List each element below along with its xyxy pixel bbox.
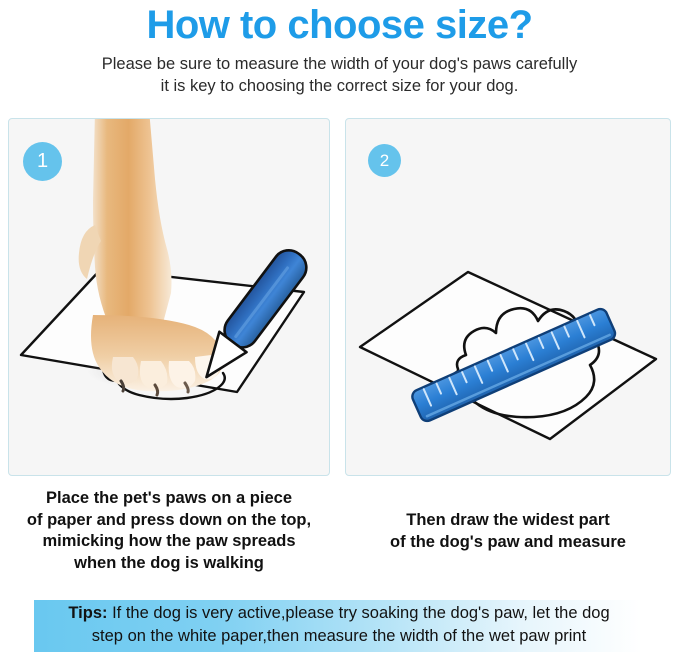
step-2-caption: Then draw the widest part of the dog's p…	[345, 510, 671, 553]
caption-1-line-2: of paper and press down on the top,	[8, 510, 330, 532]
tips-banner: Tips: If the dog is very active,please t…	[34, 600, 642, 652]
caption-1-line-1: Place the pet's paws on a piece	[8, 488, 330, 510]
caption-1-line-3: mimicking how the paw spreads	[8, 531, 330, 553]
caption-2-line-2: of the dog's paw and measure	[345, 532, 671, 554]
page-title: How to choose size?	[0, 2, 679, 48]
step-number-badge-1: 1	[23, 142, 62, 181]
dog-leg	[93, 119, 172, 331]
step-panel-2: 2	[345, 118, 671, 476]
caption-1-line-4: when the dog is walking	[8, 553, 330, 575]
step-number-badge-2: 2	[368, 144, 401, 177]
subtitle-line-2: it is key to choosing the correct size f…	[0, 75, 679, 97]
tips-label: Tips:	[68, 604, 107, 622]
tips-text-2: step on the white paper,then measure the…	[40, 625, 638, 648]
step-1-caption: Place the pet's paws on a piece of paper…	[8, 488, 330, 574]
page-subtitle: Please be sure to measure the width of y…	[0, 53, 679, 97]
tips-line-1: Tips: If the dog is very active,please t…	[40, 602, 638, 625]
subtitle-line-1: Please be sure to measure the width of y…	[0, 53, 679, 75]
header: How to choose size? Please be sure to me…	[0, 0, 679, 97]
step-panel-1: 1	[8, 118, 330, 476]
caption-2-line-1: Then draw the widest part	[345, 510, 671, 532]
tips-text-1: If the dog is very active,please try soa…	[108, 604, 610, 622]
